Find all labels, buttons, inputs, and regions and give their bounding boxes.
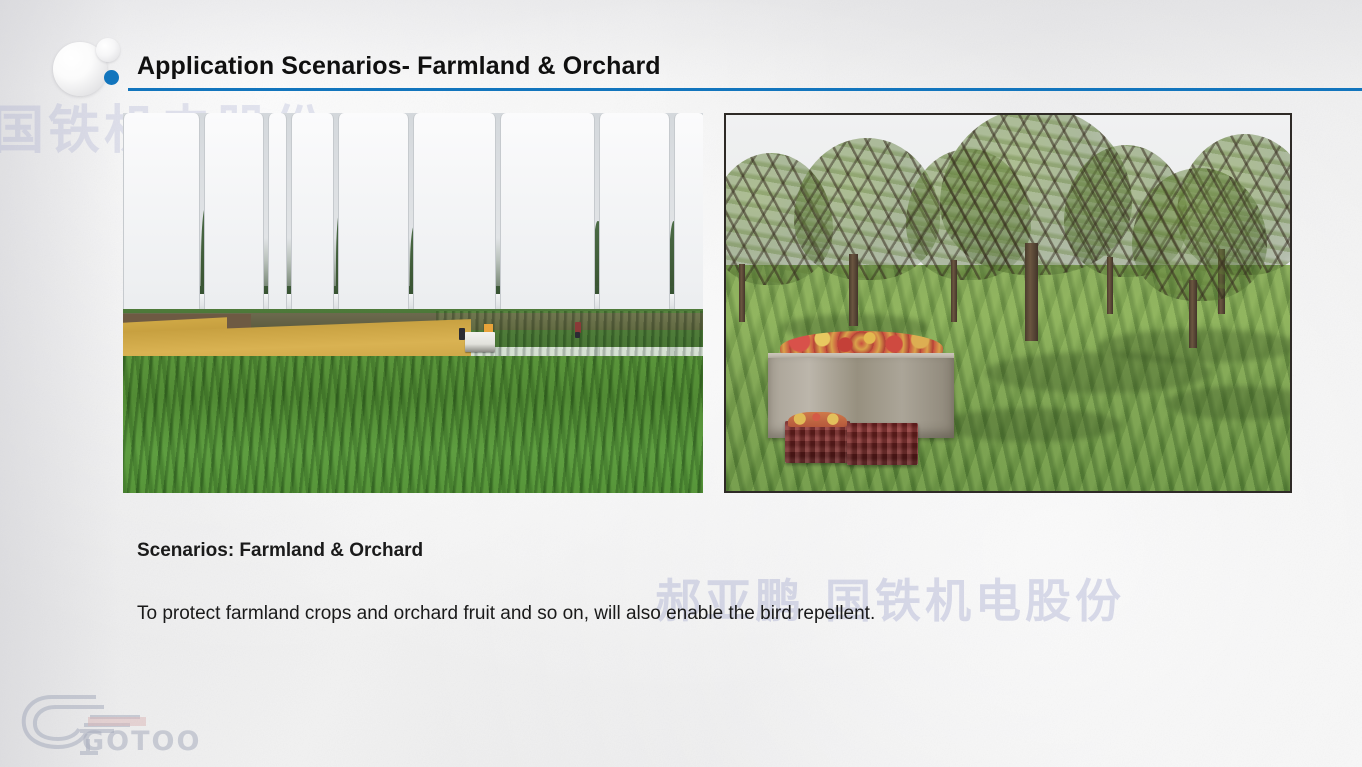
scenarios-description: To protect farmland crops and orchard fr… <box>137 603 875 625</box>
header-small-circle-icon <box>96 38 120 62</box>
orchard-photo <box>724 113 1292 493</box>
farmland-photo <box>123 113 703 493</box>
header-blue-dot-icon <box>104 70 119 85</box>
slide: 国铁机电股份 国铁机电股份 Application Scenarios- Far… <box>0 0 1362 767</box>
gotoo-logo-text: GOTOO <box>82 726 201 757</box>
scenarios-subheading: Scenarios: Farmland & Orchard <box>137 540 423 562</box>
page-title: Application Scenarios- Farmland & Orchar… <box>137 52 661 81</box>
title-underline-rule <box>128 88 1362 91</box>
